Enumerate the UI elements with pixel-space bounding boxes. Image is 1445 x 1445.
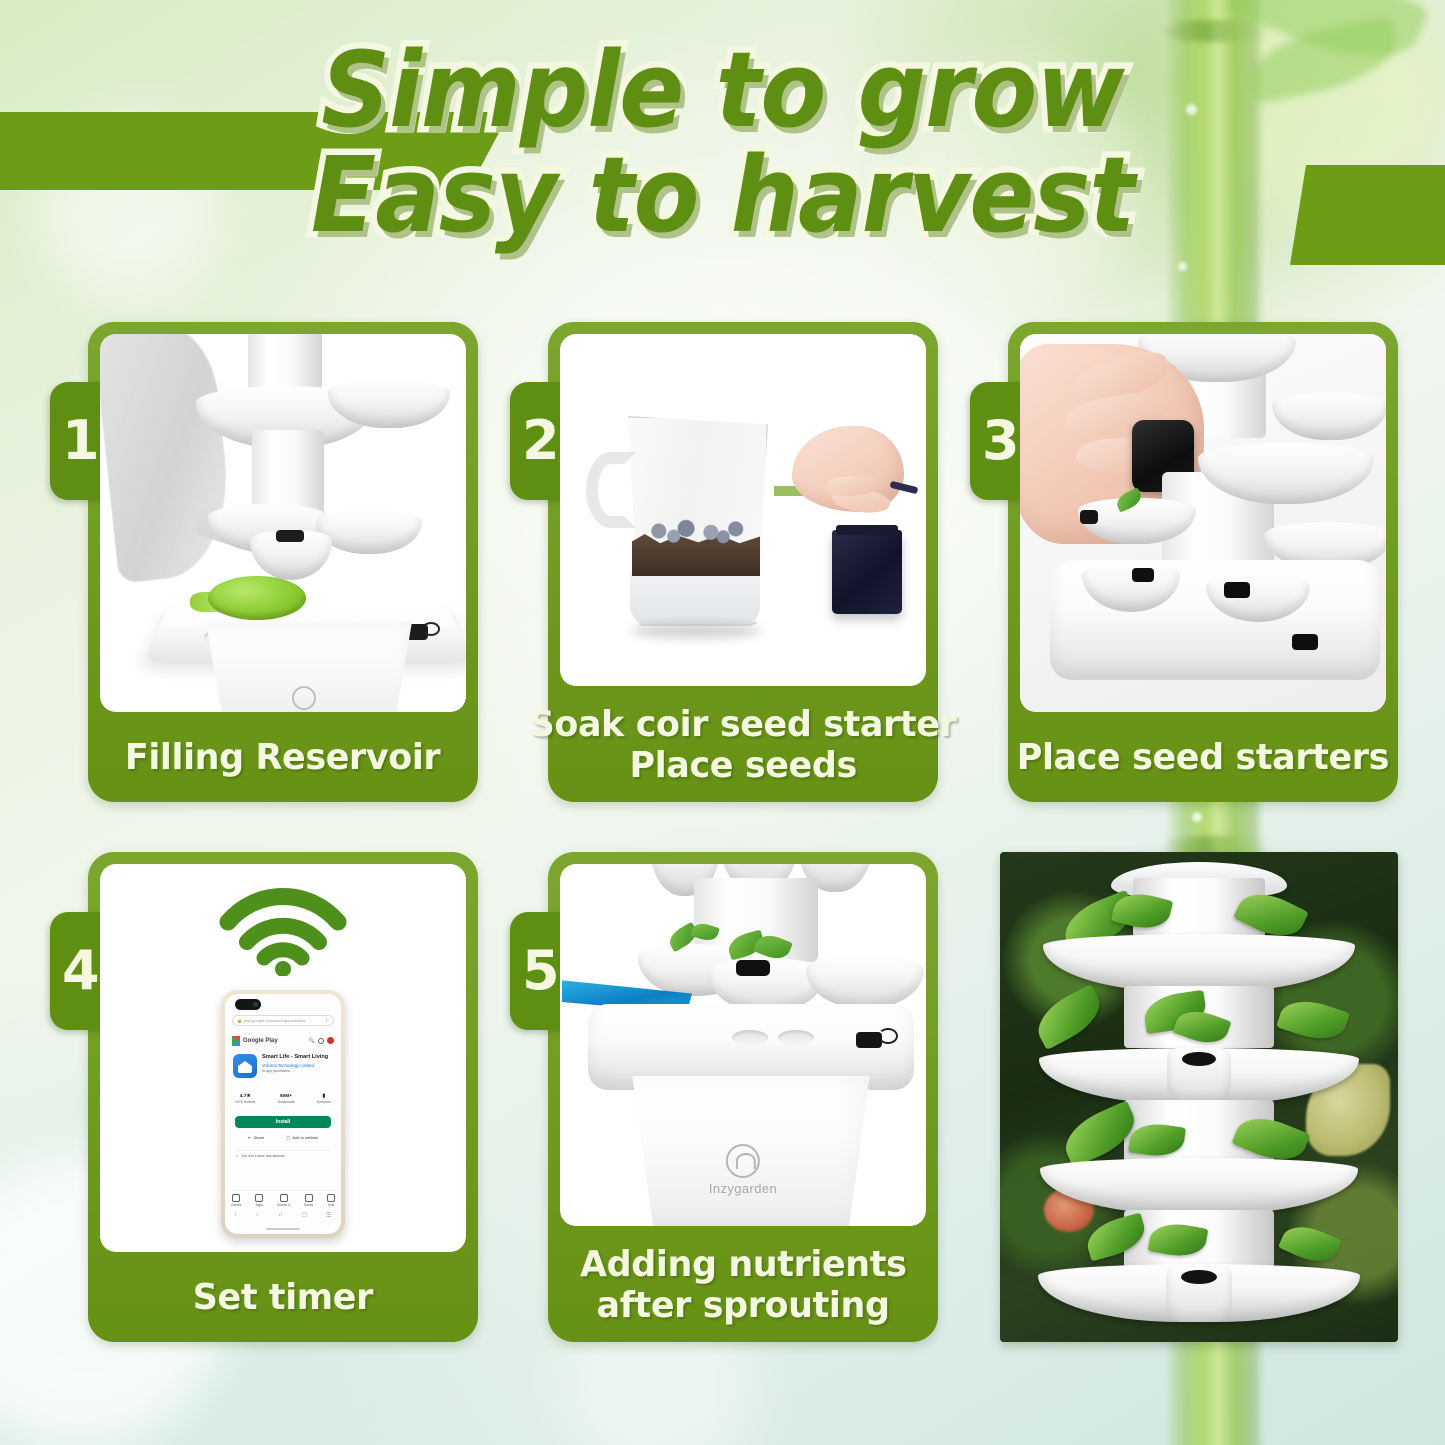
phone-screen: 🔒 play.google.com/store/apps/details ↻ G… xyxy=(225,994,341,1234)
step-caption-2-line-2: Place seeds xyxy=(629,745,856,786)
stat-value: 4.7★ xyxy=(235,1094,255,1099)
seed-plug xyxy=(1224,582,1250,598)
hydroponic-tower-garden-photo xyxy=(1000,852,1398,1342)
app-actions: ⇤ Share ▢ Add to wishlist xyxy=(237,1135,329,1140)
install-button[interactable]: Install xyxy=(235,1116,331,1128)
filling-reservoir-photo xyxy=(100,334,466,712)
google-play-header: Google Play 🔍 xyxy=(232,1034,334,1047)
step-caption-5-line-2: after sprouting xyxy=(596,1285,889,1326)
brand-name: Inzygarden xyxy=(709,1181,777,1196)
seed-plug xyxy=(1080,510,1098,524)
stat-downloads: 50M+ Downloads xyxy=(278,1094,295,1104)
step-card-1[interactable]: 1 xyxy=(88,322,478,802)
app-title: Smart Life - Smart Living xyxy=(262,1054,328,1061)
step-card-2[interactable]: 2 Soak coir seed starter Place seeds xyxy=(548,322,938,802)
step-caption-1: Filling Reservoir xyxy=(88,714,478,802)
step-card-5[interactable]: 5 xyxy=(548,852,938,1342)
shadow xyxy=(630,624,762,638)
adding-nutrients-photo: Inzygarden xyxy=(560,864,926,1226)
header: Simple to grow Easy to harvest xyxy=(0,0,1445,300)
stat-label: 107K reviews xyxy=(235,1100,255,1104)
back-icon[interactable]: ‹ xyxy=(235,1212,237,1218)
help-icon[interactable] xyxy=(318,1038,324,1044)
device-icon: □ xyxy=(236,1154,238,1158)
tower-tier xyxy=(316,510,422,554)
pump-cord-loop xyxy=(878,1028,898,1044)
pump-cord-loop xyxy=(422,622,440,636)
apps-icon xyxy=(255,1194,263,1202)
avatar[interactable] xyxy=(327,1037,334,1044)
android-navbar: ‹ ○ ♫ ☐ ☰ xyxy=(225,1208,341,1222)
app-developer[interactable]: Volcano Technology Limited xyxy=(262,1063,328,1068)
tower-tier xyxy=(1272,392,1386,440)
pitcher-handle xyxy=(586,452,636,528)
home-icon[interactable]: ○ xyxy=(256,1212,260,1218)
share-action[interactable]: ⇤ Share xyxy=(248,1135,264,1140)
seed-plug xyxy=(1182,1052,1216,1066)
step-caption-4-line-1: Set timer xyxy=(193,1277,373,1318)
title-line-2: Easy to harvest xyxy=(58,145,1387,246)
tower-tier xyxy=(806,956,924,1008)
books-icon xyxy=(305,1194,313,1202)
seed-plug xyxy=(1292,634,1318,650)
wishlist-label: Add to wishlist xyxy=(292,1135,318,1140)
refresh-icon[interactable]: ↻ xyxy=(326,1018,329,1023)
step-caption-1-line-1: Filling Reservoir xyxy=(125,737,440,778)
brand-logo: Inzygarden xyxy=(709,1144,777,1196)
tab-books[interactable]: Books xyxy=(304,1194,313,1207)
seed-plug xyxy=(276,530,304,542)
step-number-4: 4 xyxy=(62,944,100,998)
smartphone: 🔒 play.google.com/store/apps/details ↻ G… xyxy=(221,990,345,1238)
green-measuring-cup xyxy=(208,576,306,620)
wishlist-action[interactable]: ▢ Add to wishlist xyxy=(286,1135,317,1140)
tab-movies[interactable]: Movies & xyxy=(277,1194,290,1207)
share-icon: ⇤ xyxy=(248,1135,251,1140)
tab-games[interactable]: Games xyxy=(231,1194,241,1207)
smart-life-app-icon xyxy=(233,1054,257,1078)
seed-packet xyxy=(832,530,902,614)
step-card-4[interactable]: 4 🔒 xyxy=(88,852,478,1342)
seeds-layer xyxy=(634,518,758,544)
step-number-5: 5 xyxy=(522,944,560,998)
lid-hole xyxy=(732,1030,768,1045)
movies-icon xyxy=(280,1194,288,1202)
stat-rating-age: ▮ Everyone xyxy=(317,1094,331,1104)
seed-plug xyxy=(1181,1270,1217,1284)
seed-plug xyxy=(1132,568,1154,582)
app-subtitle: In-app purchases xyxy=(262,1069,328,1073)
title-line-1: Simple to grow xyxy=(58,40,1387,141)
headphones-icon[interactable]: ♫ xyxy=(278,1212,283,1218)
bookmark-icon: ▢ xyxy=(286,1135,290,1140)
menu-icon[interactable]: ☰ xyxy=(326,1212,331,1219)
step-caption-3-line-1: Place seed starters xyxy=(1017,737,1389,778)
page-title: Simple to grow Easy to harvest xyxy=(0,40,1445,246)
step-number-3: 3 xyxy=(982,414,1020,468)
step-caption-2-line-1: Soak coir seed starter xyxy=(530,704,957,745)
pitcher-water xyxy=(630,572,760,626)
steps-grid: 1 xyxy=(0,300,1445,1400)
tabs-icon[interactable]: ☐ xyxy=(302,1212,307,1219)
stat-value: 50M+ xyxy=(278,1094,295,1099)
step-caption-5: Adding nutrients after sprouting xyxy=(548,1228,938,1342)
step-caption-3: Place seed starters xyxy=(1008,714,1398,802)
water-bag xyxy=(100,334,237,583)
kids-icon xyxy=(327,1194,335,1202)
browser-url-bar[interactable]: 🔒 play.google.com/store/apps/details ↻ xyxy=(232,1015,334,1026)
play-store-tabbar: Games Apps Movies & Books Kids xyxy=(231,1190,335,1207)
games-icon xyxy=(232,1194,240,1202)
device-note: □ You don't have any devices xyxy=(236,1150,330,1158)
step-caption-4: Set timer xyxy=(88,1254,478,1342)
camera-notch-icon xyxy=(235,999,261,1010)
home-indicator xyxy=(266,1228,300,1230)
step-number-2: 2 xyxy=(522,414,560,468)
step-caption-2: Soak coir seed starter Place seeds xyxy=(548,688,938,802)
stat-label: Downloads xyxy=(278,1100,295,1104)
lock-icon: 🔒 xyxy=(237,1018,242,1023)
set-timer-photo: 🔒 play.google.com/store/apps/details ↻ G… xyxy=(100,864,466,1252)
stat-rating: 4.7★ 107K reviews xyxy=(235,1094,255,1104)
lid-hole xyxy=(778,1030,814,1045)
step-card-3[interactable]: 3 xyxy=(1008,322,1398,802)
tab-apps[interactable]: Apps xyxy=(255,1194,263,1207)
stat-value: ▮ xyxy=(317,1094,331,1099)
tab-kids[interactable]: Kids xyxy=(327,1194,335,1207)
step-caption-5-line-1: Adding nutrients xyxy=(580,1244,906,1285)
device-note-text: You don't have any devices xyxy=(241,1154,285,1158)
share-label: Share xyxy=(254,1135,265,1140)
inzygarden-logo-icon xyxy=(726,1144,760,1178)
search-icon[interactable]: 🔍 xyxy=(309,1038,315,1044)
brand-logo-mark xyxy=(292,686,316,710)
seed-plug xyxy=(736,960,770,976)
soak-coir-photo xyxy=(560,334,926,686)
app-stats: 4.7★ 107K reviews 50M+ Downloads ▮ Every… xyxy=(235,1094,331,1104)
store-name: Google Play xyxy=(243,1038,278,1044)
place-seed-starters-photo xyxy=(1020,334,1386,712)
url-text: play.google.com/store/apps/details xyxy=(244,1018,305,1023)
google-play-icon xyxy=(232,1036,240,1046)
stat-label: Everyone xyxy=(317,1100,331,1104)
step-number-1: 1 xyxy=(62,414,100,468)
wifi-icon xyxy=(218,882,348,976)
app-header: Smart Life - Smart Living Volcano Techno… xyxy=(233,1054,333,1078)
